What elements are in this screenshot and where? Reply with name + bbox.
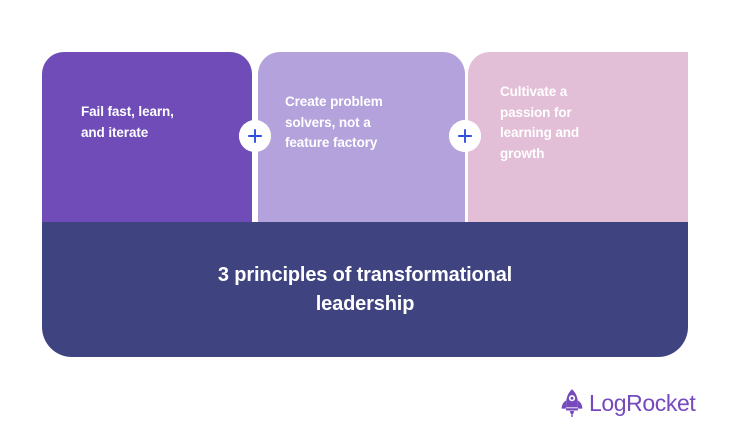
plus-icon (449, 120, 481, 152)
logrocket-logo: LogRocket (558, 388, 695, 418)
principle-card-2-label: Create problem solvers, not a feature fa… (285, 92, 451, 154)
logrocket-wordmark: LogRocket (589, 392, 695, 415)
principle-card-1-label: Fail fast, learn, and iterate (81, 102, 238, 143)
principle-card-3[interactable]: Cultivate a passion for learning and gro… (468, 52, 688, 222)
principle-card-1[interactable]: Fail fast, learn, and iterate (42, 52, 252, 222)
infographic-container: Fail fast, learn, and iterate Create pro… (42, 52, 688, 357)
plus-icon (239, 120, 271, 152)
infographic-title: 3 principles of transformational leaders… (218, 261, 512, 319)
principle-card-2[interactable]: Create problem solvers, not a feature fa… (258, 52, 465, 222)
principles-panel-row: Fail fast, learn, and iterate Create pro… (42, 52, 688, 222)
rocket-icon (558, 388, 586, 418)
summary-banner: 3 principles of transformational leaders… (42, 222, 688, 357)
principle-card-3-label: Cultivate a passion for learning and gro… (500, 82, 674, 164)
